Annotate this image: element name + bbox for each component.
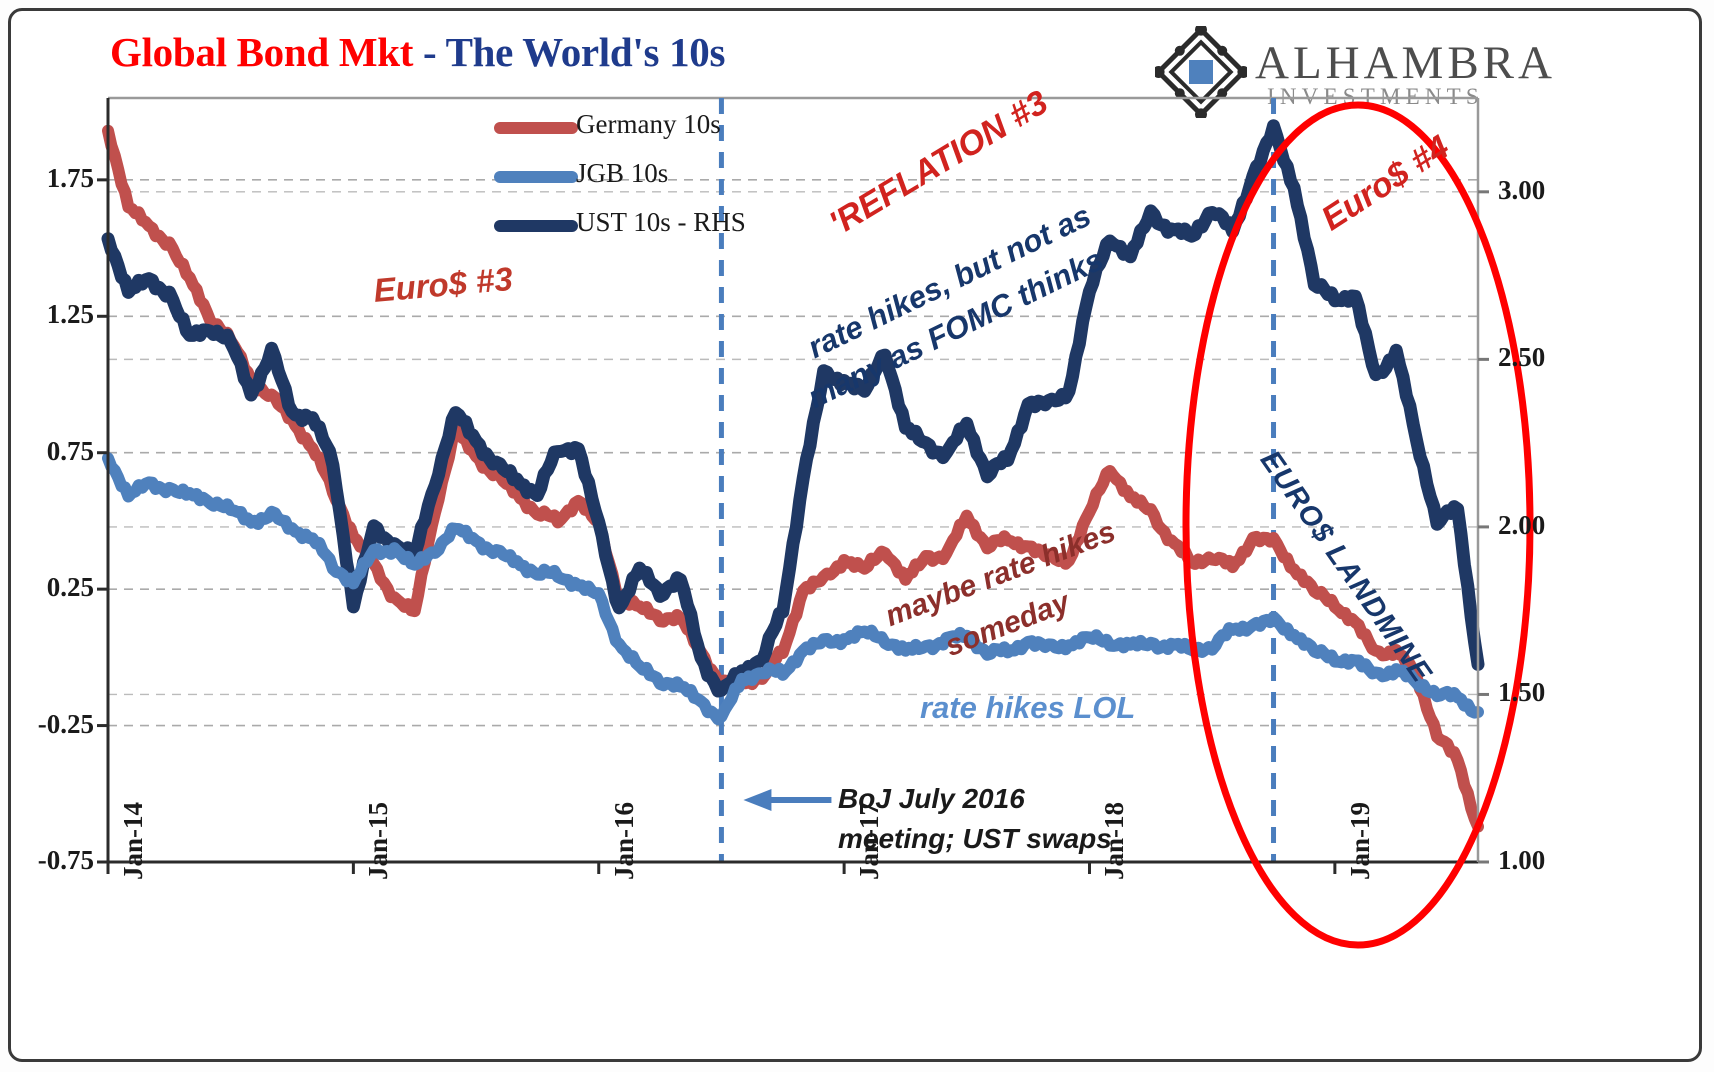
x-axis-tick-label: Jan-15 — [363, 802, 394, 880]
y-axis-left-tick-label: 0.25 — [14, 572, 94, 603]
x-axis-tick-label: Jan-14 — [118, 802, 149, 880]
annotation-rate-hikes-lol: rate hikes LOL — [920, 690, 1135, 726]
chart-svg — [0, 0, 1714, 1072]
x-axis-tick-label: Jan-16 — [609, 802, 640, 880]
plot-area — [0, 0, 1714, 1072]
y-axis-left-tick-label: 1.75 — [14, 163, 94, 194]
x-axis-tick-label: Jan-19 — [1345, 802, 1376, 880]
legend-item-label: Germany 10s — [576, 109, 721, 140]
annotation-boj-line2: meeting; UST swaps — [838, 823, 1112, 855]
legend-item-label: UST 10s - RHS — [576, 207, 746, 238]
y-axis-right-tick-label: 2.00 — [1498, 510, 1545, 541]
y-axis-right-tick-label: 2.50 — [1498, 342, 1545, 373]
y-axis-left-tick-label: -0.25 — [14, 709, 94, 740]
y-axis-right-tick-label: 1.00 — [1498, 845, 1545, 876]
y-axis-left-tick-label: 1.25 — [14, 299, 94, 330]
y-axis-left-tick-label: 0.75 — [14, 436, 94, 467]
y-axis-left-tick-label: -0.75 — [14, 845, 94, 876]
y-axis-right-tick-label: 1.50 — [1498, 677, 1545, 708]
legend-item-label: JGB 10s — [576, 158, 668, 189]
chart-frame: Global Bond Mkt - The World's 10s — [0, 0, 1714, 1072]
y-axis-right-tick-label: 3.00 — [1498, 175, 1545, 206]
annotation-boj-line1: BoJ July 2016 — [838, 783, 1025, 815]
